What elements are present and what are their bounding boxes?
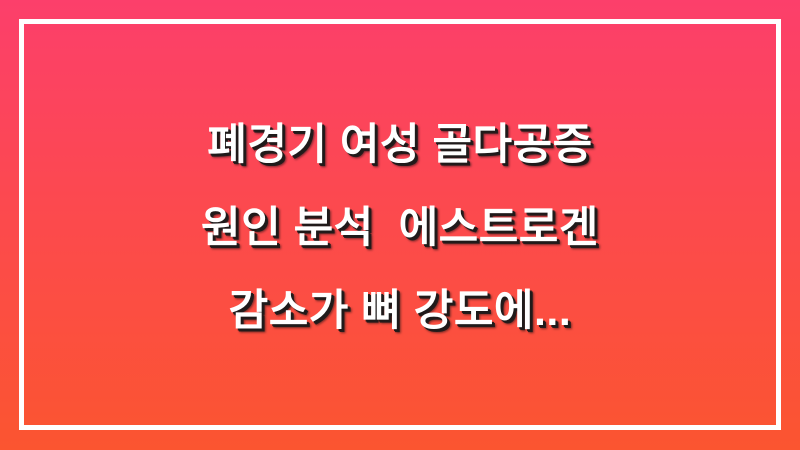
title-line-1: 폐경기 여성 골다공증	[207, 104, 592, 187]
thumbnail-card: 폐경기 여성 골다공증 원인 분석 에스트로겐 감소가 뼈 강도에...	[0, 0, 800, 450]
title-line-2: 원인 분석 에스트로겐	[201, 187, 599, 270]
title-block: 폐경기 여성 골다공증 원인 분석 에스트로겐 감소가 뼈 강도에...	[0, 0, 800, 450]
title-line-3: 감소가 뼈 강도에...	[229, 270, 572, 353]
